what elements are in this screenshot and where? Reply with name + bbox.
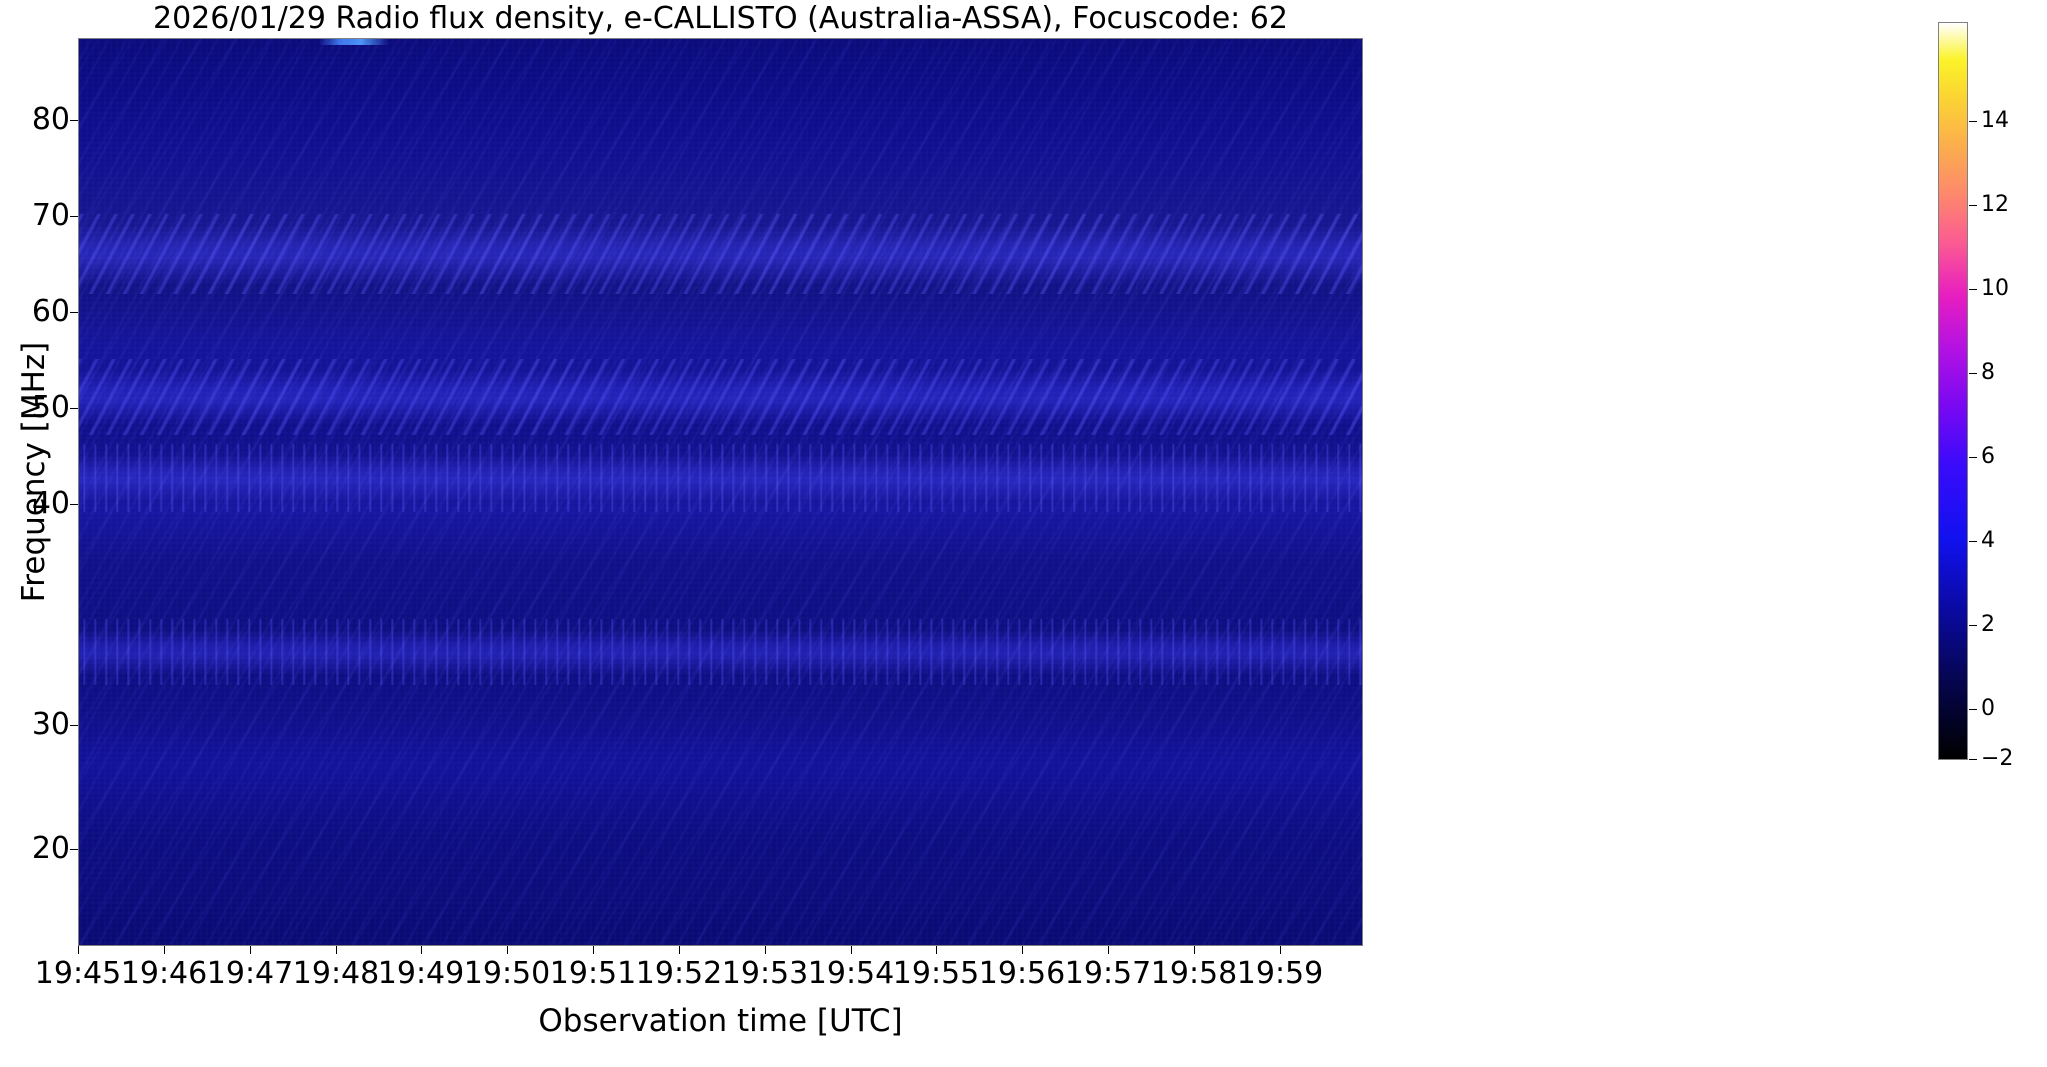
colorbar <box>1938 22 1968 760</box>
colorbar-tick-label: 0 <box>1981 698 1995 720</box>
colorbar-tick-label: 8 <box>1981 362 1995 384</box>
colorbar-gradient <box>1939 23 1967 759</box>
ytick-label: 80 <box>12 105 70 135</box>
top-bright-artifact <box>319 39 389 45</box>
ytick-label: 70 <box>12 201 70 231</box>
page-title: 2026/01/29 Radio flux density, e-CALLIST… <box>78 2 1363 36</box>
y-axis-label: Frequency [MHz] <box>16 302 52 642</box>
colorbar-tick-label: 10 <box>1981 278 2009 300</box>
colorbar-tick-label: 2 <box>1981 614 1995 636</box>
colorbar-tick-label: 12 <box>1981 194 2009 216</box>
colorbar-tick-label: 4 <box>1981 530 1995 552</box>
x-axis-label: Observation time [UTC] <box>78 1003 1363 1039</box>
ytick-label: 30 <box>12 710 70 740</box>
spectrogram-axes <box>78 38 1363 946</box>
spectrogram-horizontal-noise <box>79 39 1362 945</box>
colorbar-tick-label: −2 <box>1981 748 2013 770</box>
ytick-label: 20 <box>12 834 70 864</box>
xtick-label: 19:59 <box>1210 958 1350 990</box>
colorbar-tick-label: 6 <box>1981 446 1995 468</box>
colorbar-tick-label: 14 <box>1981 110 2009 132</box>
